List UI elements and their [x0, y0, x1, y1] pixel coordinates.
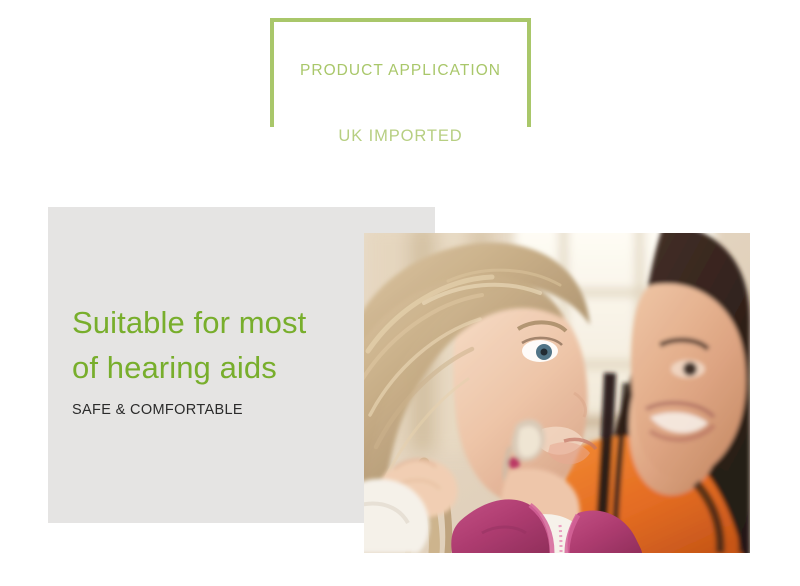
- banner-title: PRODUCT APPLICATION: [270, 62, 531, 80]
- photo-illustration: [364, 233, 750, 553]
- feature-copy: Suitable for most of hearing aids SAFE &…: [72, 300, 372, 418]
- feature-subhead: SAFE & COMFORTABLE: [72, 402, 372, 418]
- banner-subtitle: UK IMPORTED: [330, 127, 470, 145]
- header-banner: PRODUCT APPLICATION UK IMPORTED: [270, 18, 531, 136]
- product-application-photo: [364, 233, 750, 553]
- banner-border-top: [270, 18, 531, 22]
- banner-subtitle-wrap: UK IMPORTED: [270, 127, 531, 146]
- feature-headline: Suitable for most of hearing aids: [72, 300, 372, 390]
